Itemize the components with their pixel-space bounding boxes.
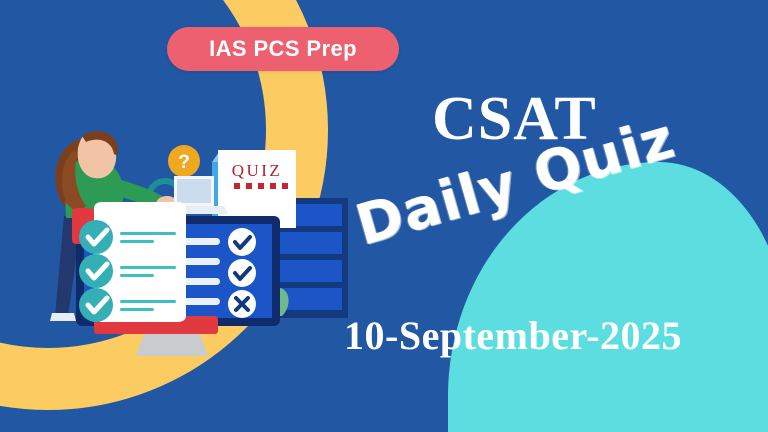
answer-mark-cross [228, 290, 256, 318]
answer-mark-check-1 [228, 228, 256, 256]
checklist-check-3 [79, 288, 113, 322]
checklist-document [79, 202, 186, 322]
answer-mark-check-2 [228, 259, 256, 287]
question-mark-badge-icon: ? [168, 145, 200, 177]
quiz-banner: ? QUIZ [0, 0, 768, 432]
brand-badge-label: IAS PCS Prep [209, 36, 357, 62]
checklist-check-2 [79, 254, 113, 288]
brand-badge[interactable]: IAS PCS Prep [167, 27, 399, 71]
svg-text:?: ? [178, 152, 190, 173]
student-quiz-illustration: ? QUIZ [28, 120, 348, 390]
quiz-date: 10-September-2025 [344, 316, 682, 356]
checklist-check-1 [79, 220, 113, 254]
svg-text:QUIZ: QUIZ [232, 161, 283, 180]
